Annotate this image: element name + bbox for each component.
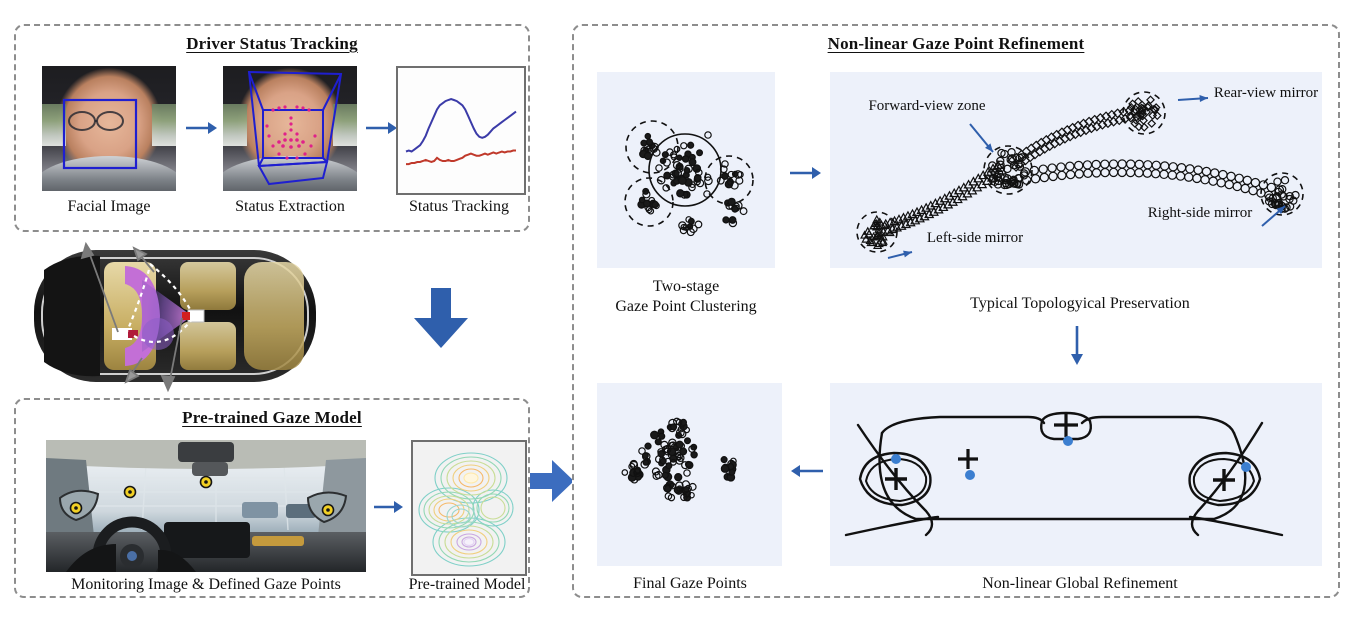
facial-image-photo <box>42 66 176 191</box>
pre-trained-model-caption: Pre-trained Model <box>394 576 540 594</box>
arrow-down-icon <box>1068 326 1086 366</box>
series-status-blue <box>406 99 516 152</box>
final-gaze-points-caption: Final Gaze Points <box>592 575 788 593</box>
gaze-point <box>732 206 738 212</box>
defined-gaze-cross <box>958 449 978 469</box>
status-extraction-caption: Status Extraction <box>209 198 371 216</box>
refined-gaze-dot <box>891 454 901 464</box>
arrow-right-icon <box>364 119 398 137</box>
gaze-point <box>655 439 661 445</box>
gaze-point <box>1202 167 1210 175</box>
status-tracking-caption: Status Tracking <box>384 198 534 216</box>
gaze-point <box>1233 182 1241 190</box>
gaze-point <box>1168 171 1176 179</box>
non-linear-global-refinement-caption: Non-linear Global Refinement <box>930 575 1230 593</box>
gaze-point <box>1109 160 1117 168</box>
gaze-point <box>641 140 647 146</box>
gaze-point <box>1201 176 1209 184</box>
gaze-point <box>652 201 658 207</box>
arrow-right-icon <box>530 458 576 504</box>
gaze-point <box>689 159 696 166</box>
gaze-point <box>723 217 729 223</box>
gaze-point <box>1177 164 1185 172</box>
two-stage-clustering-caption-line1: Two-stage <box>597 278 775 296</box>
two-stage-clustering-caption-line2: Gaze Point Clustering <box>587 298 785 316</box>
arrow-right-icon <box>788 164 822 182</box>
driver-status-tracking-panel: Driver Status Tracking Facial Image <box>14 24 530 232</box>
gaze-point <box>1209 177 1217 185</box>
gaze-point <box>1194 166 1202 174</box>
gaze-point <box>684 168 690 174</box>
gaze-point <box>1084 169 1092 177</box>
driver-status-tracking-title: Driver Status Tracking <box>16 34 528 54</box>
pre-trained-gaze-model-title: Pre-trained Gaze Model <box>16 408 528 428</box>
gaze-point <box>1040 173 1048 181</box>
gaze-point <box>1126 168 1134 176</box>
gaze-point <box>1118 160 1126 168</box>
gaze-point <box>1152 161 1160 169</box>
gaze-point <box>682 156 688 162</box>
gaze-point <box>677 190 684 197</box>
gaze-point <box>675 474 682 481</box>
gaze-point <box>705 132 711 138</box>
gaze-point <box>729 469 735 475</box>
gaze-point <box>722 173 729 180</box>
gaze-point <box>689 218 695 224</box>
gaze-point <box>684 470 690 476</box>
non-linear-global-refinement-field <box>830 383 1322 566</box>
gaze-point <box>622 470 627 475</box>
face-bounding-box <box>64 100 136 168</box>
windshield-outline <box>846 517 938 535</box>
gaze-point <box>676 441 683 448</box>
gaze-point <box>1057 163 1065 171</box>
right-side-mirror-label: Right-side mirror <box>1120 205 1280 222</box>
gaze-point <box>1092 169 1100 177</box>
gaze-point <box>1243 176 1251 184</box>
gaze-point <box>1251 178 1259 186</box>
final-gaze-points-field <box>597 383 782 566</box>
gaze-point <box>1176 172 1184 180</box>
gaze-point <box>1039 165 1047 173</box>
gaze-point <box>1227 172 1235 180</box>
facial-landmarks <box>265 105 316 159</box>
gaze-point <box>681 143 687 149</box>
status-tracking-chart <box>396 66 526 195</box>
gaze-point <box>1101 168 1109 176</box>
gaze-point <box>1249 187 1257 195</box>
gaze-point <box>1049 172 1057 180</box>
refined-gaze-dot <box>1063 436 1073 446</box>
left-side-mirror-label: Left-side mirror <box>900 230 1050 247</box>
status-extraction-photo <box>223 66 357 191</box>
gaze-point <box>1152 170 1160 178</box>
gaze-point <box>645 443 651 449</box>
gaze-point <box>1031 175 1039 183</box>
gaze-point <box>721 465 728 472</box>
gaze-point <box>1160 170 1168 178</box>
gaze-point <box>1127 160 1135 168</box>
arrow-left-icon <box>790 462 824 480</box>
car-top-view-diagram <box>30 236 320 396</box>
monitoring-image-caption: Monitoring Image & Defined Gaze Points <box>26 576 386 594</box>
gaze-point <box>1092 160 1100 168</box>
contour-lines <box>419 453 513 566</box>
gaze-point <box>1185 173 1193 181</box>
pre-trained-gaze-model-panel: Pre-trained Gaze Model <box>14 398 530 598</box>
gaze-point <box>1211 169 1219 177</box>
gaze-point <box>1075 170 1083 178</box>
gaze-point <box>1058 171 1066 179</box>
gaze-point <box>1148 120 1155 127</box>
gaze-point <box>1241 184 1249 192</box>
gaze-point <box>1101 160 1109 168</box>
gaze-point <box>1048 164 1056 172</box>
gaze-point <box>1144 161 1152 169</box>
gaze-point <box>679 177 686 184</box>
windshield-outline <box>1190 517 1282 535</box>
gaze-point <box>728 198 735 205</box>
gaze-point <box>697 150 703 156</box>
gaze-point <box>729 217 735 223</box>
gaze-point <box>1066 162 1074 170</box>
gaze-point <box>695 221 702 228</box>
gaze-point <box>1143 169 1151 177</box>
gaze-point <box>1109 168 1117 176</box>
gaze-point <box>1169 163 1177 171</box>
gaze-point <box>1186 165 1194 173</box>
gaze-point <box>656 165 662 171</box>
gaze-point <box>1235 174 1243 182</box>
gaze-point <box>1193 174 1201 182</box>
defined-gaze-cross <box>1213 469 1235 491</box>
gaze-point <box>684 487 689 492</box>
monitoring-image-photo <box>46 440 366 572</box>
gaze-point <box>1217 179 1225 187</box>
gaze-point <box>1118 168 1126 176</box>
gaze-point <box>659 433 665 439</box>
gaze-point <box>645 133 650 138</box>
gaze-point <box>693 165 700 172</box>
gaze-point <box>688 142 694 148</box>
arrow-right-icon <box>372 498 404 516</box>
forward-view-zone-label: Forward-view zone <box>842 98 1012 115</box>
arrow-right-icon <box>184 119 218 137</box>
gaze-point <box>660 458 666 464</box>
center-display <box>164 522 250 558</box>
gaze-point <box>685 438 691 444</box>
gaze-point <box>1083 161 1091 169</box>
gaze-point <box>1075 161 1083 169</box>
gaze-point <box>1135 160 1143 168</box>
head-pose-cube <box>249 72 341 184</box>
gaze-point <box>677 155 682 160</box>
gaze-point <box>740 208 747 215</box>
gaze-point <box>658 451 664 457</box>
gaze-point <box>1219 170 1227 178</box>
non-linear-refinement-title: Non-linear Gaze Point Refinement <box>574 34 1338 54</box>
gaze-point <box>639 448 645 454</box>
arrow-down-icon <box>412 288 470 350</box>
gaze-point <box>721 457 727 463</box>
gaze-point <box>1161 162 1169 170</box>
gaze-point <box>1135 169 1143 177</box>
refined-gaze-dot <box>1241 462 1251 472</box>
gaze-point <box>1066 170 1074 178</box>
gaze-point <box>1274 178 1281 185</box>
pre-trained-model-contour-plot <box>411 440 527 576</box>
facial-image-caption: Facial Image <box>32 198 186 216</box>
gaze-point <box>1281 177 1288 184</box>
gaze-point <box>662 472 668 478</box>
gaze-point <box>1225 180 1233 188</box>
refined-gaze-dot <box>965 470 975 480</box>
series-status-red <box>406 151 516 165</box>
gaze-point <box>680 448 687 455</box>
gaze-point <box>1259 181 1267 189</box>
gaze-point <box>643 460 648 465</box>
rear-view-mirror-label: Rear-view mirror <box>1186 85 1346 102</box>
gaze-point <box>644 152 651 159</box>
gaze-point <box>651 431 659 439</box>
typical-topological-preservation-caption: Typical Topologyical Preservation <box>930 295 1230 313</box>
two-stage-clustering-field <box>597 72 775 268</box>
gaze-point <box>1267 183 1275 191</box>
defined-gaze-cross <box>1054 413 1078 437</box>
gaze-point <box>671 424 677 430</box>
